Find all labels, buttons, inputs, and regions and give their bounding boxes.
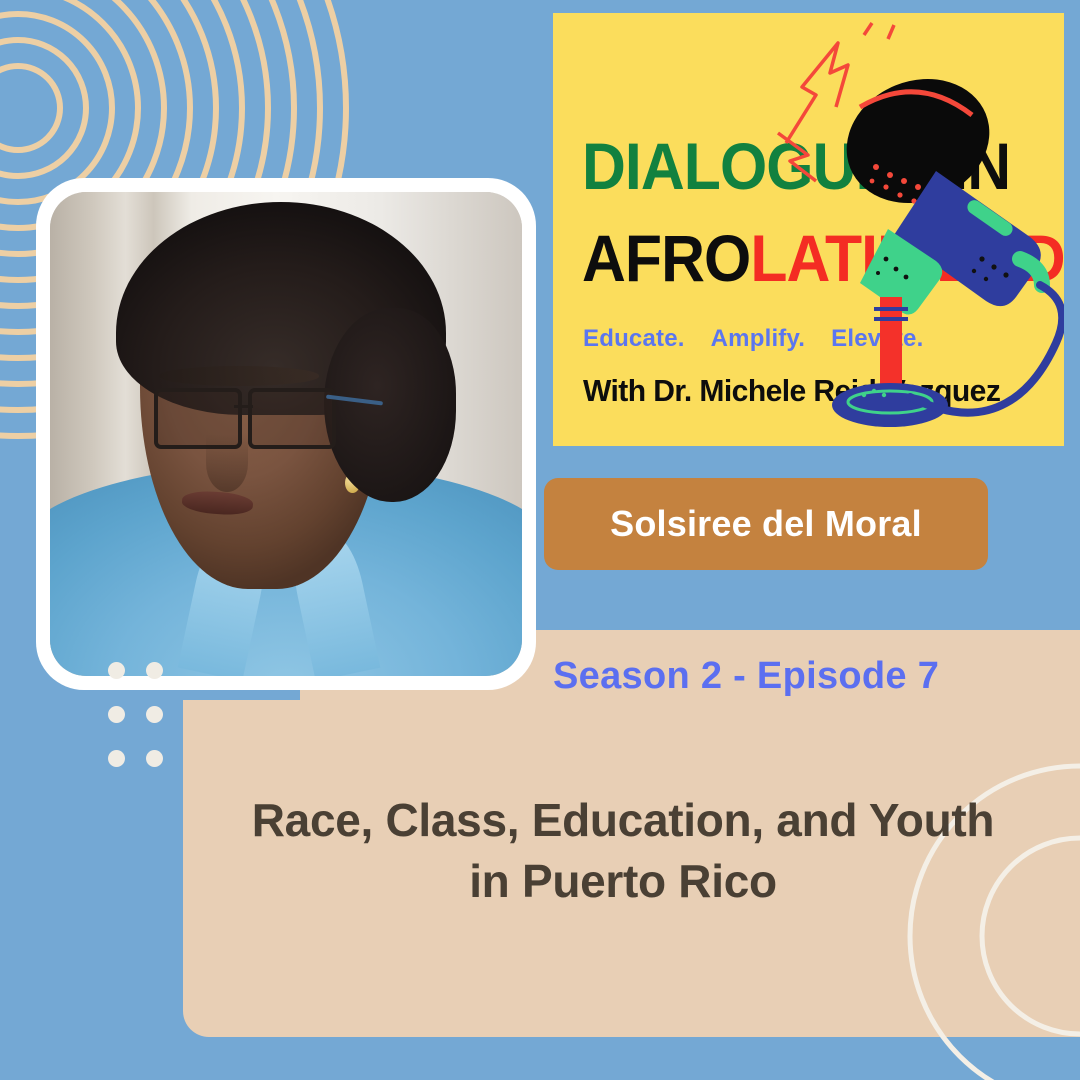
podcast-logo-card: DIALOGUESIN AFROLATINIDAD Educate.Amplif… <box>553 13 1064 446</box>
decor-dot <box>146 750 163 767</box>
episode-title-line-2: in Puerto Rico <box>183 851 1063 912</box>
guest-name-banner: Solsiree del Moral <box>544 478 988 570</box>
logo-word-afro: AFRO <box>582 221 750 295</box>
season-episode-label: Season 2 - Episode 7 <box>553 655 939 698</box>
decor-dot <box>108 706 125 723</box>
guest-photo-card <box>36 178 536 690</box>
episode-graphic-canvas: DIALOGUESIN AFROLATINIDAD Educate.Amplif… <box>0 0 1080 1080</box>
microphone-icon <box>768 21 1064 431</box>
decor-dot <box>146 706 163 723</box>
episode-title-line-1: Race, Class, Education, and Youth <box>183 790 1063 851</box>
episode-title: Race, Class, Education, and Youth in Pue… <box>183 790 1063 911</box>
decor-dot <box>108 750 125 767</box>
tagline-educate: Educate. <box>583 325 685 352</box>
guest-portrait-image <box>50 192 522 676</box>
guest-name-text: Solsiree del Moral <box>610 503 922 545</box>
